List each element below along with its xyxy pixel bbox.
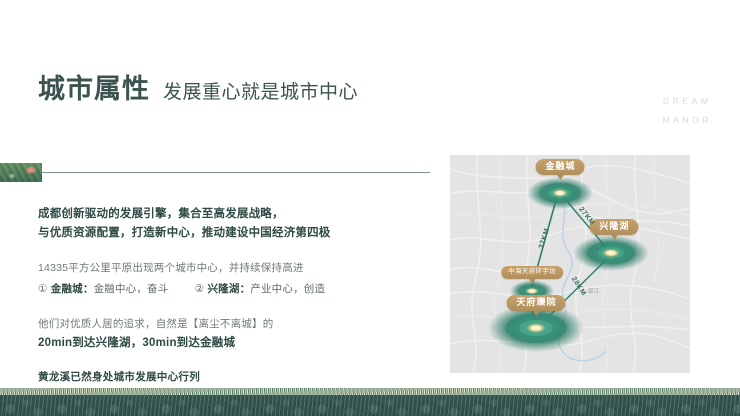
location-map[interactable]: 金融城 兴隆湖 中海天府环宇坊 天府瓅院 37KM 27KM 28KM 锦江	[450, 155, 690, 373]
brand-mark-line-1: DREAM	[662, 92, 712, 111]
center-item-1-name: 金融城：	[51, 283, 94, 295]
divider-line	[42, 172, 430, 173]
lifestyle-note: 他们对优质人居的追求，自然是【离尘不离城】的	[38, 315, 418, 334]
center-list: ① 金融城：金融中心，奋斗 ② 兴隆湖：产业中心，创造	[38, 279, 418, 299]
page-title: 城市属性 发展重心就是城市中心	[38, 76, 358, 103]
lead-line-2: 与优质资源配置，打造新中心，推动建设中国经济第四极	[38, 224, 418, 243]
decorative-swatch-icon	[0, 163, 42, 182]
center-item-2-desc: 产业中心，创造	[250, 283, 325, 295]
map-marker-halo-jinrongcheng	[527, 177, 593, 209]
center-item-2-index: ②	[195, 283, 205, 295]
lead-paragraph: 成都创新驱动的发展引擎，集合至高发展战略， 与优质资源配置，打造新中心，推动建设…	[38, 205, 418, 243]
map-river-label: 锦江	[588, 287, 600, 295]
body-copy: 成都创新驱动的发展引擎，集合至高发展战略， 与优质资源配置，打造新中心，推动建设…	[38, 205, 418, 386]
map-pin-jinrongcheng[interactable]: 金融城	[535, 159, 584, 175]
footer-ornament-band	[0, 388, 740, 416]
center-item-1-desc: 金融中心，奋斗	[94, 283, 169, 295]
center-item-2-name: 兴隆湖：	[207, 283, 250, 295]
footer-damask-pattern	[0, 395, 740, 416]
page-title-subtitle: 发展重心就是城市中心	[163, 83, 358, 102]
page-title-main: 城市属性	[38, 76, 150, 103]
brand-mark-line-2: MANOR	[662, 111, 712, 130]
map-canvas	[450, 155, 690, 373]
map-marker-halo-xinglonghu	[573, 235, 649, 271]
lead-line-1: 成都创新驱动的发展引擎，集合至高发展战略，	[38, 205, 418, 224]
center-item-1-index: ①	[38, 283, 48, 295]
supporting-note: 14335平方公里平原出现两个城市中心，并持续保持高进	[38, 258, 418, 278]
map-pin-tianfu-jingyuan[interactable]: 天府瓅院	[506, 295, 565, 311]
slide-root: 城市属性 发展重心就是城市中心 DREAM MANOR 成都创新驱动的发展引擎，…	[0, 0, 740, 416]
commute-emphasis: 20min到达兴隆湖，30min到达金融城	[38, 334, 418, 353]
brand-mark: DREAM MANOR	[662, 92, 712, 130]
section-divider	[0, 163, 430, 183]
footer-fringe-texture	[0, 388, 740, 395]
map-pin-zhonghai-tianfu-huanyufang[interactable]: 中海天府环宇坊	[501, 266, 563, 279]
closing-statement: 黄龙溪已然身处城市发展中心行列	[38, 368, 418, 386]
map-pin-xinglonghu[interactable]: 兴隆湖	[589, 219, 638, 235]
